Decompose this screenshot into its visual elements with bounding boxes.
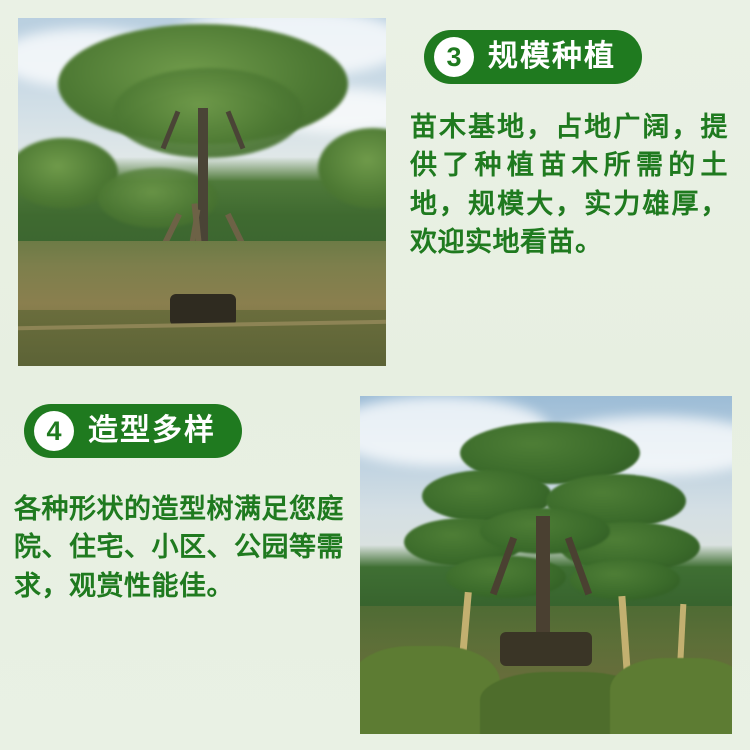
main-tree-canopy [113, 68, 303, 158]
section-title-4: 造型多样 [88, 416, 216, 446]
section-heading-4: 4 造型多样 [24, 404, 242, 458]
foreground-foliage [360, 646, 500, 734]
root-ball [500, 632, 592, 666]
root-ball [170, 294, 236, 326]
shaped-tree-trunk [536, 516, 550, 646]
section-heading-3: 3 规模种植 [424, 30, 642, 84]
section-number-4: 4 [34, 411, 74, 451]
section-title-3: 规模种植 [488, 42, 616, 72]
section-body-4: 各种形状的造型树满足您庭院、住宅、小区、公园等需求，观赏性能佳。 [14, 490, 344, 605]
photo-nursery-field [18, 18, 386, 366]
section-number-3: 3 [434, 37, 474, 77]
foreground-foliage [610, 658, 732, 734]
section-body-3: 苗木基地，占地广阔，提供了种植苗木所需的土地，规模大，实力雄厚，欢迎实地看苗。 [410, 108, 728, 261]
photo-shaped-tree [360, 396, 732, 734]
promo-page: 3 规模种植 苗木基地，占地广阔，提供了种植苗木所需的土地，规模大，实力雄厚，欢… [0, 0, 750, 750]
